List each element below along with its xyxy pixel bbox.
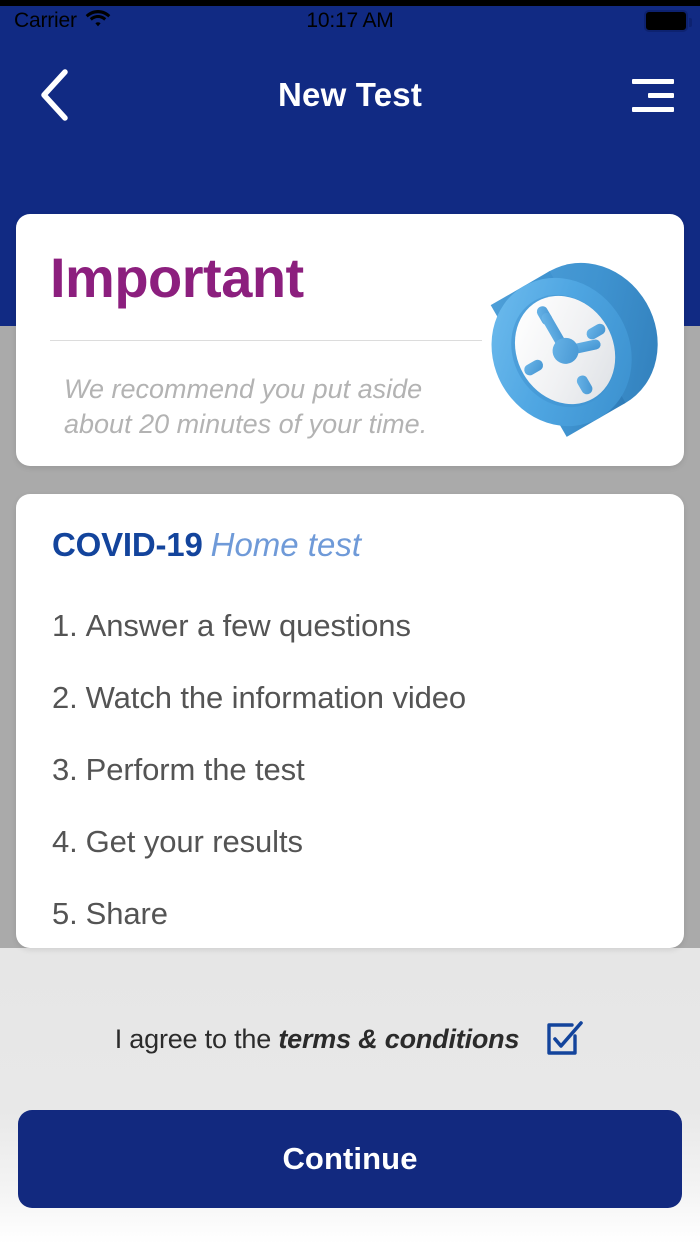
list-item: 3.Perform the test [52, 734, 664, 806]
list-item: 5.Share [52, 878, 664, 948]
clock-3d-icon [472, 246, 672, 446]
terms-checkbox[interactable] [541, 1017, 585, 1061]
card-divider [50, 340, 482, 341]
terms-link[interactable]: terms & conditions [278, 1024, 519, 1054]
important-subtitle: We recommend you put aside about 20 minu… [64, 372, 484, 441]
list-item: 4.Get your results [52, 806, 664, 878]
step-label: Share [86, 896, 168, 931]
step-number: 5. [52, 896, 78, 931]
step-label: Get your results [86, 824, 303, 859]
phone-screen: Carrier 10:17 AM New Test [0, 0, 700, 1244]
continue-button[interactable]: Continue [18, 1110, 682, 1208]
steps-heading-bold: COVID-19 [52, 526, 203, 563]
list-item: 1.Answer a few questions [52, 590, 664, 662]
steps-card: COVID-19Home test 1.Answer a few questio… [16, 494, 684, 948]
step-label: Watch the information video [86, 680, 466, 715]
step-number: 2. [52, 680, 78, 715]
steps-heading: COVID-19Home test [52, 528, 361, 561]
status-bar-right [644, 6, 688, 36]
important-card: Important We recommend you put aside abo… [16, 214, 684, 466]
battery-full-icon [644, 10, 688, 32]
important-title: Important [50, 250, 304, 306]
list-item: 2.Watch the information video [52, 662, 664, 734]
checkbox-checked-icon [542, 1018, 584, 1060]
step-number: 4. [52, 824, 78, 859]
terms-row: I agree to the terms & conditions [0, 1008, 700, 1070]
step-label: Perform the test [86, 752, 305, 787]
status-bar-time: 10:17 AM [0, 6, 700, 36]
step-number: 1. [52, 608, 78, 643]
status-bar: Carrier 10:17 AM [0, 6, 700, 36]
step-label: Answer a few questions [86, 608, 411, 643]
steps-list: 1.Answer a few questions 2.Watch the inf… [52, 590, 664, 948]
nav-bar: New Test [0, 50, 700, 140]
hamburger-menu-icon[interactable] [622, 68, 678, 122]
step-number: 3. [52, 752, 78, 787]
steps-heading-italic: Home test [211, 526, 361, 563]
page-title: New Test [0, 50, 700, 140]
terms-label: I agree to the terms & conditions [115, 1024, 520, 1055]
menu-bar-bottom [632, 107, 674, 112]
menu-bar-middle [648, 93, 674, 98]
menu-bar-top [632, 79, 674, 84]
terms-prefix: I agree to the [115, 1024, 271, 1054]
